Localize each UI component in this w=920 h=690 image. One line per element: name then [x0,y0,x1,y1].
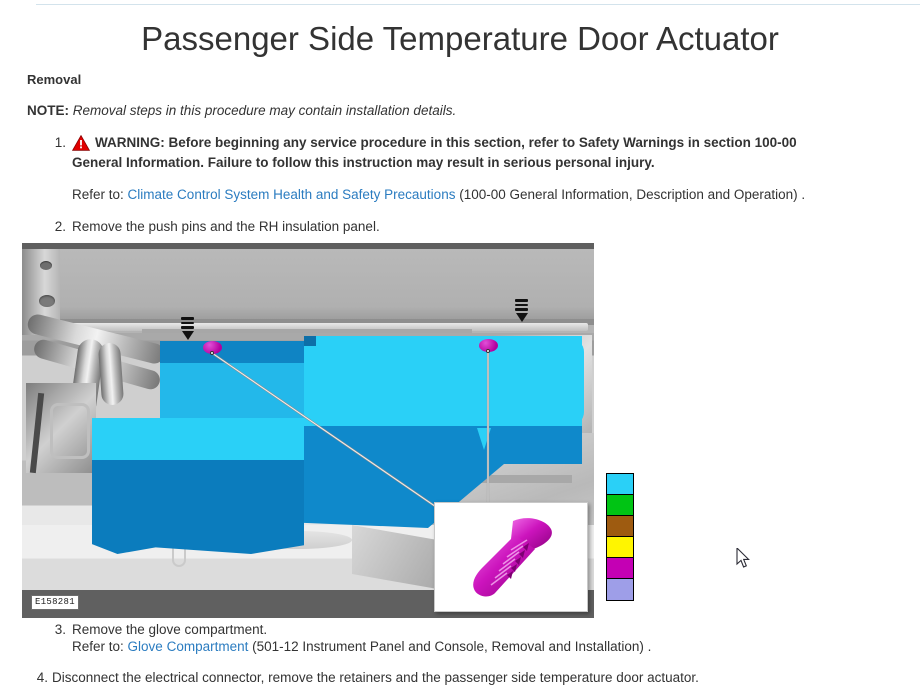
legend-swatch-magenta [607,558,633,579]
pin-anchor-left [210,351,214,355]
refer-prefix: Refer to: [72,187,124,202]
refer-suffix: (100-00 General Information, Description… [459,187,805,202]
link-climate-control-precautions[interactable]: Climate Control System Health and Safety… [128,187,456,202]
detail-inset-push-pin [434,502,588,612]
insulation-panel-right-mid [304,376,582,426]
link-glove-compartment[interactable]: Glove Compartment [128,639,249,654]
bolt-hole-2 [39,295,55,307]
arrow-bar [181,326,194,329]
note-line: NOTE: Removal steps in this procedure ma… [27,103,456,118]
legend-swatch-periwinkle [607,579,633,600]
bolt-hole-1 [40,261,52,270]
arrow-bar [515,299,528,302]
legend-swatch-brown [607,516,633,537]
note-text: Removal steps in this procedure may cont… [73,103,456,118]
arrow-bar [181,317,194,320]
section-heading: Removal [27,72,81,87]
step-1-warning-text: WARNING: Before beginning any service pr… [72,135,797,170]
procedure-step-2: 2. Remove the push pins and the RH insul… [48,217,748,237]
arrow-marker-left [181,317,194,340]
insulation-panel-right-top [432,336,582,376]
arrow-bar [181,322,194,325]
color-legend [606,473,634,601]
arrow-bar [515,304,528,307]
warning-triangle-icon [72,135,90,151]
harness-pipe-4 [98,342,124,405]
bracket-loop [50,403,90,459]
illustration-id-label: E158281 [31,595,79,610]
procedure-step-4: 4. Disconnect the electrical connector, … [36,668,896,688]
arrow-head [182,331,194,340]
procedure-step-1: 1. WARNING: Before beginning any service… [48,133,848,173]
insulation-panel-right-round-edge [562,338,584,426]
step-3-refer-line: Refer to: Glove Compartment (501-12 Inst… [72,639,651,654]
pin-anchor-right [486,349,490,353]
legend-swatch-green [607,495,633,516]
dash-panel [60,249,594,321]
step-4-text: Disconnect the electrical connector, rem… [52,668,896,688]
step-number: 4. [36,668,48,688]
insulation-panel-left-lower [92,460,304,532]
arrow-marker-right [515,299,528,322]
insulation-panel-left-body [92,418,304,460]
insulation-panel-left-top [160,341,304,363]
insulation-panel-right-lower [304,426,582,464]
step-body: WARNING: Before beginning any service pr… [72,133,848,173]
step-1-refer-line: Refer to: Climate Control System Health … [72,187,805,202]
legend-swatch-cyan [607,474,633,495]
refer-prefix: Refer to: [72,639,124,654]
refer-suffix: (501-12 Instrument Panel and Console, Re… [252,639,651,654]
procedure-step-3: 3. Remove the glove compartment. [48,620,748,640]
step-number: 3. [48,620,66,640]
push-pin-screw-icon [461,513,561,603]
arrow-bar [515,308,528,311]
note-label: NOTE: [27,103,69,118]
page-title: Passenger Side Temperature Door Actuator [0,20,920,58]
step-number: 1. [48,133,66,153]
step-3-text: Remove the glove compartment. [72,620,748,640]
page-top-divider [36,4,920,5]
insulation-panel-right-upper [316,336,432,376]
step-number: 2. [48,217,66,237]
arrow-head [516,313,528,322]
mouse-pointer-icon [736,548,750,568]
legend-swatch-yellow [607,537,633,558]
step-2-text: Remove the push pins and the RH insulati… [72,217,748,237]
illustration-figure[interactable]: E158281 [22,243,594,618]
insulation-panel-left-mid [160,363,304,418]
